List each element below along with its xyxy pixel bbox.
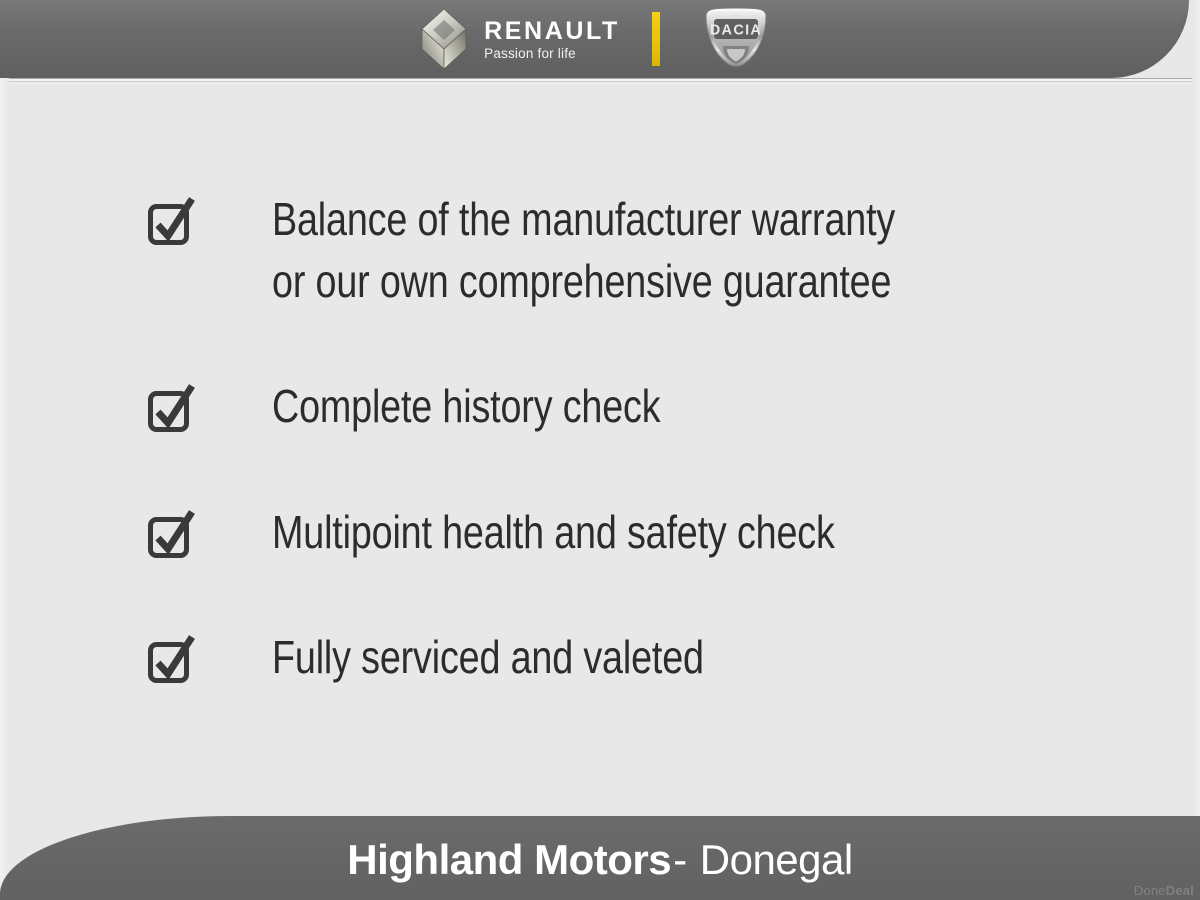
list-item-label: Multipoint health and safety check: [272, 501, 835, 563]
donedeal-watermark: DoneDeal: [1134, 883, 1194, 898]
list-item: Fully serviced and valeted: [146, 632, 799, 688]
footer-content: Highland Motors- Donegal: [0, 816, 1200, 900]
dealer-name: Highland Motors: [347, 836, 671, 883]
brand-header-bar: RENAULT Passion for life: [0, 0, 1189, 78]
dealer-title: Highland Motors- Donegal: [347, 836, 852, 884]
renault-brand-name: RENAULT: [484, 19, 620, 44]
renault-wordmark-group: RENAULT Passion for life: [484, 17, 620, 61]
renault-diamond-icon: [417, 8, 471, 70]
checked-checkbox-icon: [146, 381, 200, 435]
renault-logo-block: RENAULT Passion for life: [417, 8, 620, 70]
dealer-footer-bar: Highland Motors- Donegal DoneDeal: [0, 816, 1200, 900]
dealer-location: Donegal: [700, 836, 853, 883]
list-item: Multipoint health and safety check: [146, 507, 958, 563]
list-item-label: Complete history check: [272, 375, 660, 437]
promo-slide: RENAULT Passion for life: [0, 0, 1200, 900]
list-item-label: Fully serviced and valeted: [272, 626, 704, 688]
watermark-part-one: Done: [1134, 883, 1166, 898]
checked-checkbox-icon: [146, 507, 200, 561]
checked-checkbox-icon: [146, 632, 200, 686]
dacia-shield-icon: DACIA: [700, 6, 772, 72]
list-item: Balance of the manufacturer warranty or …: [146, 194, 1032, 312]
list-item: Complete history check: [146, 381, 746, 437]
header-divider-line: [0, 78, 1192, 85]
svg-text:DACIA: DACIA: [710, 23, 762, 39]
list-item-label: Balance of the manufacturer warranty or …: [272, 188, 895, 312]
brand-divider: [652, 12, 660, 66]
watermark-part-two: Deal: [1166, 883, 1194, 898]
brand-logo-row: RENAULT Passion for life: [0, 0, 1189, 78]
renault-tagline: Passion for life: [484, 47, 620, 61]
checked-checkbox-icon: [146, 194, 200, 248]
dealer-separator: -: [671, 836, 689, 883]
